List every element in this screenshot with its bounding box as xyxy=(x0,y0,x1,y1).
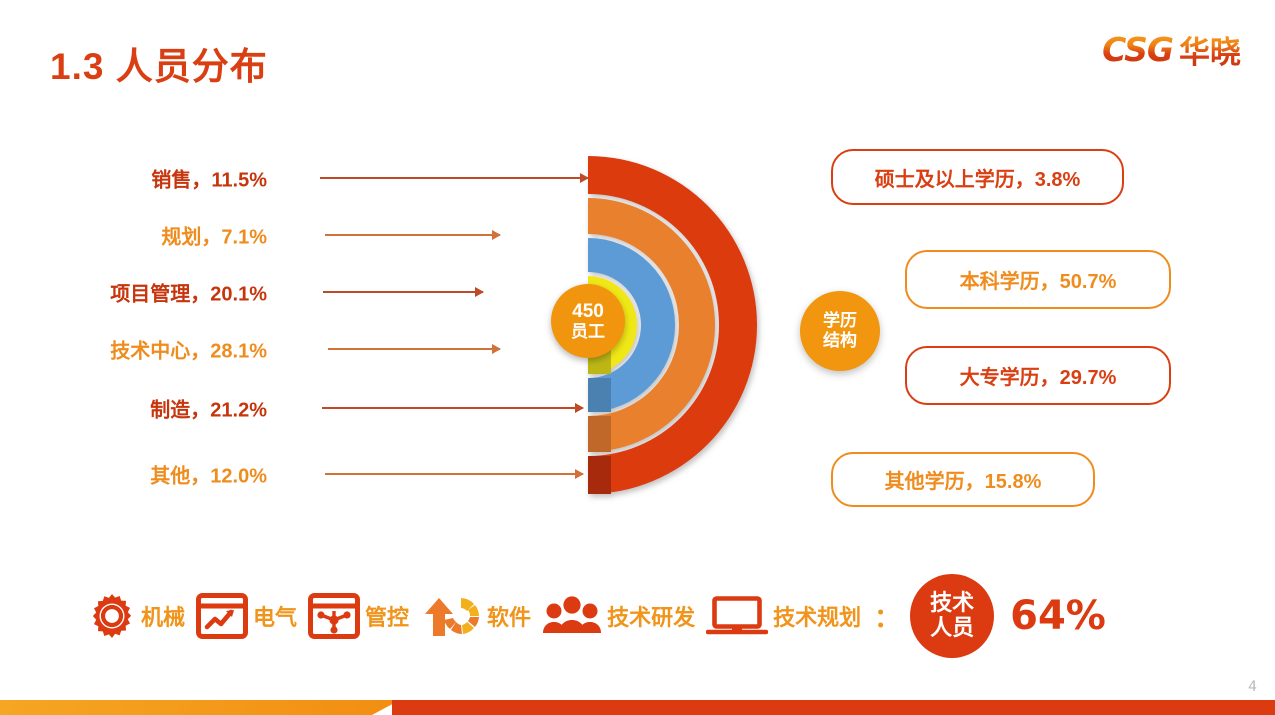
capability-label-rnd: 技术研发 xyxy=(607,600,695,632)
label-project-management: 项目管理，20.1% xyxy=(110,278,267,307)
label-planning: 规划，7.1% xyxy=(161,221,267,250)
label-sales: 销售，11.5% xyxy=(151,164,267,193)
education-badge-line1: 学历 xyxy=(823,311,857,331)
capability-label-planning: 技术规划 xyxy=(773,600,861,632)
tech-badge-line1: 技术 xyxy=(930,591,974,616)
donut-center-value: 450 xyxy=(572,301,604,322)
donut-center-unit: 员工 xyxy=(571,322,605,341)
capability-label-control: 管控 xyxy=(365,600,409,632)
tech-personnel-percent: 64% xyxy=(1010,593,1106,639)
label-manufacturing: 制造，21.2% xyxy=(150,394,267,423)
separator-colon: ： xyxy=(874,598,900,635)
slide-root: 1.3 人员分布 CSG 华晓 销售，11.5% 规划，7.1% 项目管理，20… xyxy=(0,0,1275,715)
capability-mechanical: 机械 xyxy=(88,592,196,640)
arrow-pie-icon xyxy=(420,590,482,642)
education-structure-badge: 学历 结构 xyxy=(800,291,880,371)
network-window-icon xyxy=(308,593,360,639)
capability-software: 软件 xyxy=(420,590,542,642)
endcap-orange xyxy=(588,416,611,452)
capability-electrical: 电气 xyxy=(196,593,308,639)
capability-planning: 技术规划 xyxy=(706,594,872,638)
education-item-other[interactable]: 其他学历，15.8% xyxy=(831,452,1095,507)
capability-rnd: 技术研发 xyxy=(542,595,706,637)
chart-window-icon xyxy=(196,593,248,639)
personnel-donut-chart: 450 员工 xyxy=(455,140,805,510)
capability-label-mechanical: 机械 xyxy=(141,600,185,632)
capability-label-software: 软件 xyxy=(487,600,531,632)
logo-name-text: 华晓 xyxy=(1179,27,1241,72)
education-badge-line2: 结构 xyxy=(823,331,857,351)
endcap-red xyxy=(588,456,611,494)
page-number: 4 xyxy=(1248,679,1257,695)
education-item-college[interactable]: 大专学历，29.7% xyxy=(905,346,1171,405)
education-item-master[interactable]: 硕士及以上学历，3.8% xyxy=(831,149,1124,205)
tech-badge-line2: 人员 xyxy=(930,616,974,641)
company-logo: CSG 华晓 xyxy=(1102,31,1241,67)
capability-control: 管控 xyxy=(308,593,420,639)
tech-personnel-badge: 技术 人员 xyxy=(910,574,994,658)
label-tech-center: 技术中心，28.1% xyxy=(110,335,267,364)
endcap-blue xyxy=(588,378,611,412)
donut-svg xyxy=(455,140,805,510)
laptop-icon xyxy=(706,594,768,638)
donut-center-badge: 450 员工 xyxy=(551,284,625,358)
gear-icon xyxy=(88,592,136,640)
footer-bar-orange xyxy=(0,700,400,715)
people-icon xyxy=(542,595,602,637)
footer-bar-red xyxy=(392,700,1275,715)
footer-bar xyxy=(0,700,1275,715)
logo-mark-text: CSG xyxy=(1102,30,1173,69)
capability-strip: 机械 电气 xyxy=(88,573,1106,659)
capability-label-electrical: 电气 xyxy=(253,600,297,632)
label-other: 其他，12.0% xyxy=(150,460,267,489)
education-item-bachelor[interactable]: 本科学历，50.7% xyxy=(905,250,1171,309)
